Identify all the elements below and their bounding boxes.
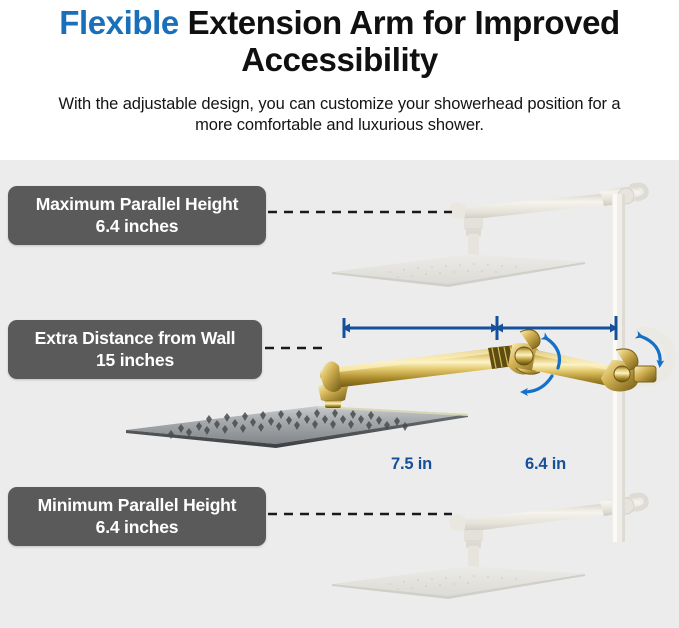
page-subtitle: With the adjustable design, you can cust… [40, 94, 640, 136]
callout-extra-distance-from-wall: Extra Distance from Wall 15 inches [8, 320, 262, 379]
header-section: Flexible Extension Arm for Improved Acce… [0, 0, 679, 160]
callout-value: 15 inches [20, 349, 250, 371]
callout-value: 6.4 inches [20, 215, 254, 237]
callout-maximum-parallel-height: Maximum Parallel Height 6.4 inches [8, 186, 266, 245]
callout-title: Maximum Parallel Height [20, 193, 254, 215]
page-title: Flexible Extension Arm for Improved Acce… [0, 4, 679, 78]
rotation-arrow-mid-down [524, 376, 552, 392]
dimension-lines [344, 316, 616, 340]
dimension-label-arm-extension: 6.4 in [525, 455, 566, 474]
callout-value: 6.4 inches [20, 516, 254, 538]
dimension-label-arm-segment: 7.5 in [391, 455, 432, 474]
callout-title: Extra Distance from Wall [20, 327, 250, 349]
page-title-accent: Flexible [59, 4, 179, 41]
page-title-rest: Extension Arm for Improved Accessibility [179, 4, 620, 78]
callout-title: Minimum Parallel Height [20, 494, 254, 516]
ghost-assembly-top [332, 185, 646, 287]
gold-extension-arm [321, 330, 656, 392]
ghost-assembly-bottom [332, 495, 646, 599]
callout-minimum-parallel-height: Minimum Parallel Height 6.4 inches [8, 487, 266, 546]
main-showerhead [126, 406, 468, 448]
